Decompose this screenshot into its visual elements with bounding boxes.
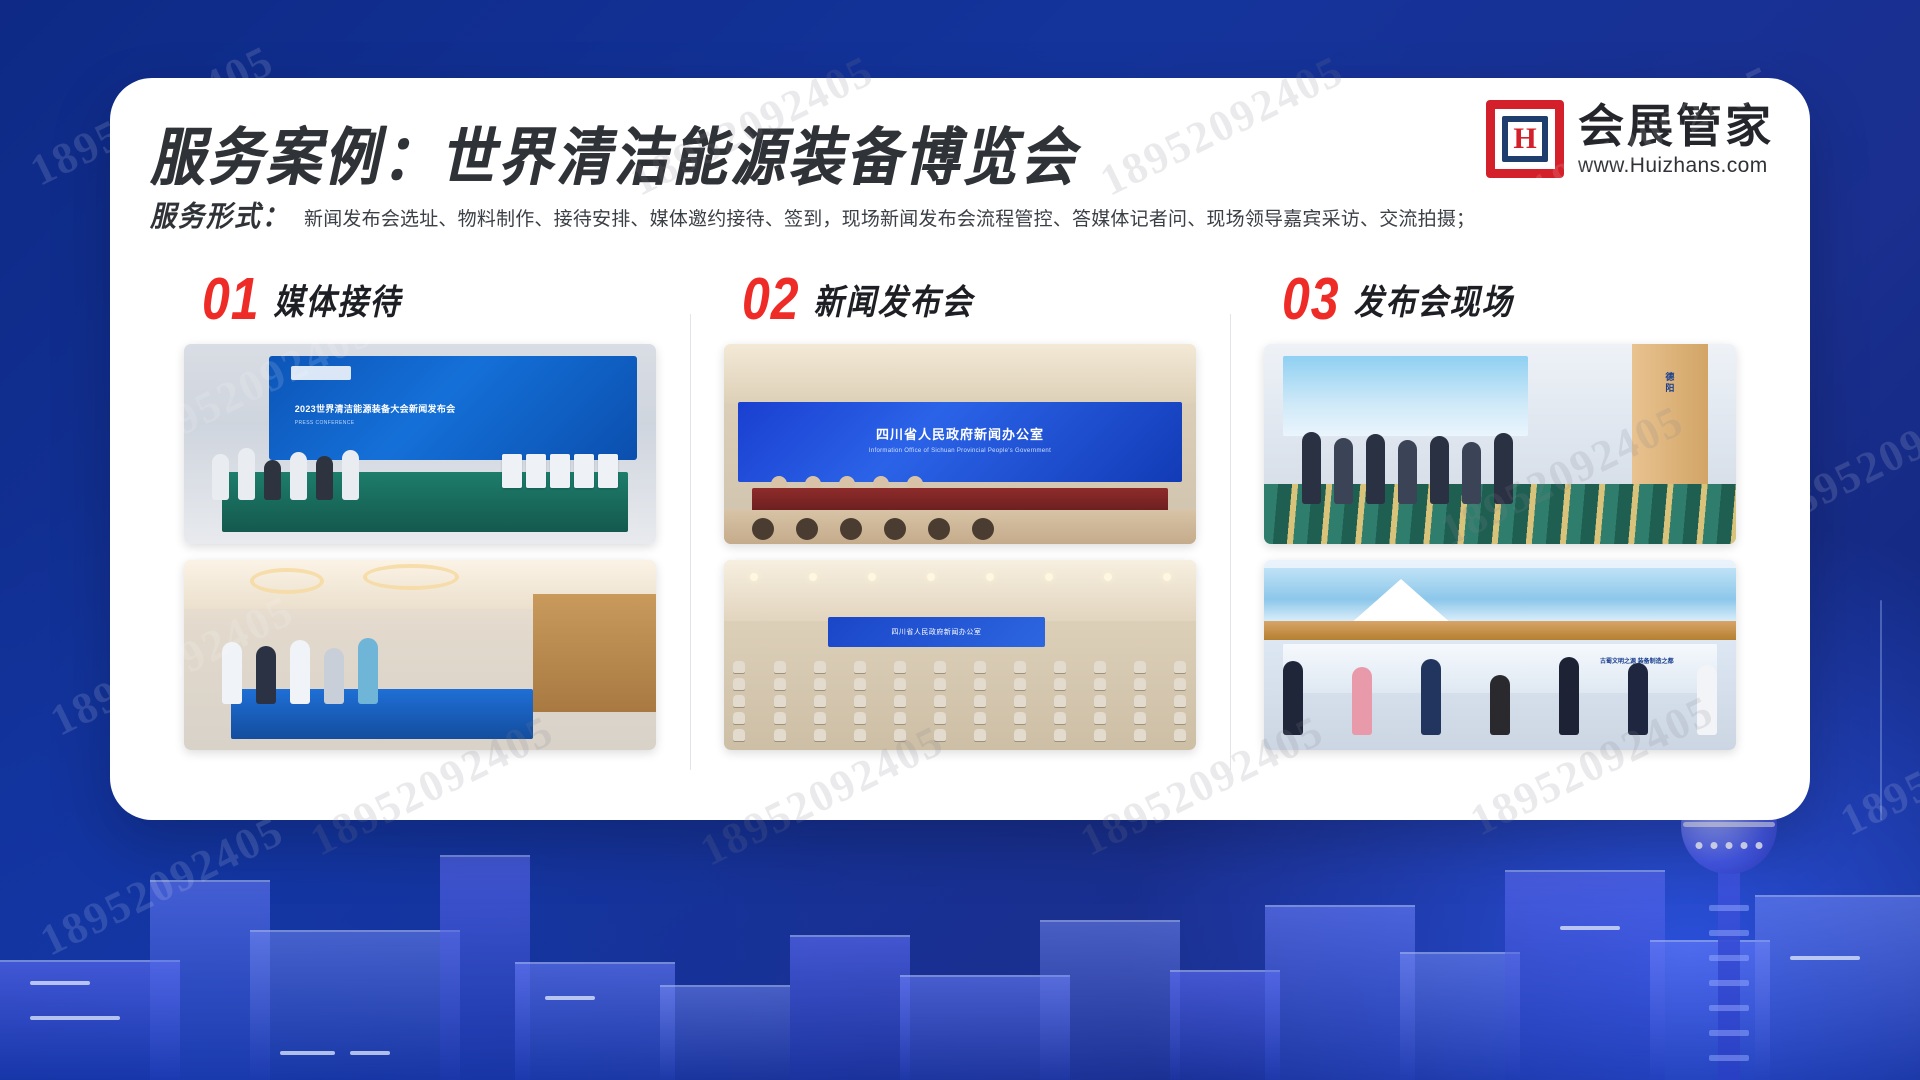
- building-shape: [900, 975, 1070, 1080]
- column-header: 01 媒体接待: [184, 268, 656, 330]
- photo-registration-counter[interactable]: [184, 560, 656, 750]
- case-column-02: 02 新闻发布会 四川省人民政府新闻办公室 Information Office…: [690, 268, 1230, 796]
- photo-banner-subcaption: PRESS CONFERENCE: [295, 420, 355, 426]
- photo-media-reception-desk[interactable]: 2023世界清洁能源装备大会新闻发布会 PRESS CONFERENCE: [184, 344, 656, 544]
- window-light: [30, 1016, 120, 1020]
- window-light: [1790, 956, 1860, 960]
- logo-letter: H: [1513, 124, 1536, 154]
- led-screen-caption: 四川省人民政府新闻办公室: [738, 424, 1182, 443]
- building-shape: [515, 962, 675, 1080]
- brand-logo: H 会展管家 www.Huizhans.com: [1486, 100, 1774, 178]
- column-number: 01: [202, 270, 260, 329]
- building-shape: [1040, 920, 1180, 1080]
- column-number: 02: [742, 270, 800, 329]
- building-shape: [150, 880, 270, 1080]
- brand-name: 会展管家: [1578, 102, 1774, 152]
- building-shape: [1265, 905, 1415, 1080]
- pillar-caption: 德阳: [1663, 372, 1676, 394]
- window-light: [280, 1051, 335, 1055]
- column-title: 媒体接待: [274, 273, 402, 324]
- slide-canvas: 服务案例：世界清洁能源装备博览会 H 会展管家 www.Huizhans.com…: [0, 0, 1920, 1080]
- led-screen-subcaption: Information Office of Sichuan Provincial…: [738, 448, 1182, 454]
- photo-stack: 2023世界清洁能源装备大会新闻发布会 PRESS CONFERENCE: [184, 344, 656, 750]
- photo-press-conference-stage[interactable]: 四川省人民政府新闻办公室 Information Office of Sichu…: [724, 344, 1196, 544]
- service-form-label: 服务形式：: [150, 194, 290, 235]
- brand-url: www.Huizhans.com: [1578, 154, 1774, 178]
- logo-mark-icon: H: [1486, 100, 1564, 178]
- watermark-text: 18952092405: [32, 805, 292, 967]
- building-shape: [790, 935, 910, 1080]
- building-shape: [1755, 895, 1920, 1080]
- photo-group-photo[interactable]: 古蜀文明之源 装备制造之都: [1264, 560, 1736, 750]
- photo-stack: 四川省人民政府新闻办公室 Information Office of Sichu…: [724, 344, 1196, 750]
- building-shape: [1505, 870, 1665, 1080]
- building-shape: [440, 855, 530, 1080]
- stage-screen-caption: 四川省人民政府新闻办公室: [828, 617, 1045, 647]
- case-column-01: 01 媒体接待 2023世界清洁能源装备大会新闻发布会 PRESS CONFER…: [150, 268, 690, 796]
- accent-line: [1880, 600, 1882, 820]
- column-number: 03: [1282, 270, 1340, 329]
- building-shape: [660, 985, 790, 1080]
- service-form-row: 服务形式： 新闻发布会选址、物料制作、接待安排、媒体邀约接待、签到，现场新闻发布…: [150, 196, 1475, 235]
- page-title: 服务案例：世界清洁能源装备博览会: [150, 106, 1078, 198]
- service-form-body: 新闻发布会选址、物料制作、接待安排、媒体邀约接待、签到，现场新闻发布会流程管控、…: [304, 206, 1475, 235]
- photo-exhibition-corridor[interactable]: 德阳: [1264, 344, 1736, 544]
- column-title: 发布会现场: [1354, 273, 1514, 324]
- window-light: [545, 996, 595, 1000]
- watermark-text: 18952092405: [1832, 685, 1920, 847]
- window-light: [350, 1051, 390, 1055]
- building-shape: [1650, 940, 1770, 1080]
- photo-auditorium-wide[interactable]: 四川省人民政府新闻办公室: [724, 560, 1196, 750]
- photo-banner-caption: 2023世界清洁能源装备大会新闻发布会: [295, 402, 456, 415]
- window-light: [30, 981, 90, 985]
- photo-stack: 德阳 古蜀文明之源 装备制造之都: [1264, 344, 1736, 750]
- column-header: 03 发布会现场: [1264, 268, 1736, 330]
- building-shape: [0, 960, 180, 1080]
- case-columns: 01 媒体接待 2023世界清洁能源装备大会新闻发布会 PRESS CONFER…: [150, 268, 1770, 796]
- case-column-03: 03 发布会现场 德阳: [1230, 268, 1770, 796]
- content-card: 服务案例：世界清洁能源装备博览会 H 会展管家 www.Huizhans.com…: [110, 78, 1810, 820]
- column-header: 02 新闻发布会: [724, 268, 1196, 330]
- window-light: [1560, 926, 1620, 930]
- building-shape: [1400, 952, 1520, 1080]
- building-shape: [250, 930, 460, 1080]
- column-title: 新闻发布会: [814, 273, 974, 324]
- building-shape: [1170, 970, 1280, 1080]
